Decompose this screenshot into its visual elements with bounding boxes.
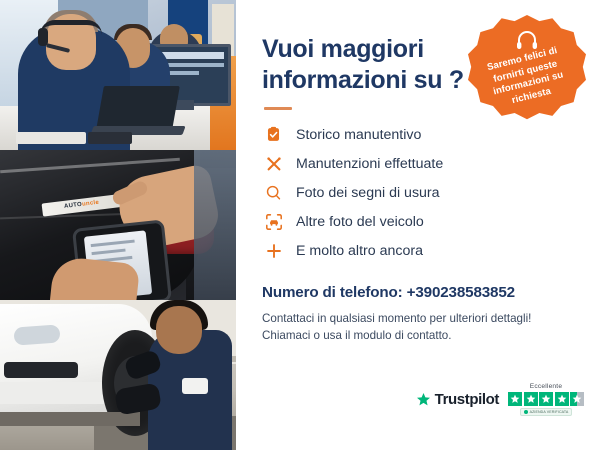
contact-line-two: Chiamaci o usa il modulo di contatto. — [262, 327, 578, 344]
feature-label: Altre foto del veicolo — [296, 214, 424, 230]
headset-band-shape — [40, 20, 102, 35]
keyboard-shape — [16, 132, 86, 144]
list-item: Altre foto del veicolo — [264, 207, 578, 236]
feature-list: Storico manutentivo Manutenzioni effettu… — [264, 120, 578, 265]
background-blur-shape — [194, 150, 236, 300]
laptop-screen-shape — [96, 86, 180, 130]
promo-banner: AUTOuncle — [0, 0, 600, 450]
trustpilot-rating: Eccellente AZIENDA VERIFICATA — [508, 383, 584, 416]
photo-call-center — [0, 0, 236, 150]
feature-label: Storico manutentivo — [296, 127, 421, 143]
contact-description: Contattaci in qualsiasi momento per ulte… — [262, 310, 578, 345]
contact-line-one: Contattaci in qualsiasi momento per ulte… — [262, 310, 578, 327]
star-4 — [555, 392, 569, 406]
list-item: E molto altro ancora — [264, 236, 578, 265]
trustpilot-widget[interactable]: Trustpilot Eccellente AZIENDA VERIFICATA — [416, 383, 584, 416]
feature-label: Manutenzioni effettuate — [296, 156, 443, 172]
photo-body-inspection: AUTOuncle — [0, 150, 236, 300]
rating-label: Eccellente — [530, 383, 562, 390]
list-item: Foto dei segni di usura — [264, 178, 578, 207]
uniform-patch-shape — [182, 378, 208, 394]
phone-number-line: Numero di telefono: +390238583852 — [262, 284, 578, 301]
list-item: Storico manutentivo — [264, 120, 578, 149]
content-panel: Vuoi maggiori informazioni su ? Saremo f… — [236, 0, 600, 450]
crossed-tools-icon — [264, 154, 283, 173]
headset-icon — [514, 29, 540, 51]
mousepad-shape — [88, 132, 132, 144]
mechanic-head-shape — [156, 306, 202, 354]
feature-label: Foto dei segni di usura — [296, 185, 440, 201]
magnifier-icon — [264, 183, 283, 202]
star-2 — [524, 392, 538, 406]
plus-icon — [264, 241, 283, 260]
grille-shape — [4, 362, 78, 378]
feature-label: E molto altro ancora — [296, 243, 423, 259]
bumper-shape — [0, 382, 118, 404]
verified-label: AZIENDA VERIFICATA — [530, 410, 569, 414]
clipboard-check-icon — [264, 125, 283, 144]
star-3 — [539, 392, 553, 406]
photo-column: AUTOuncle — [0, 0, 236, 450]
badge-text: Saremo felici di fornirti queste informa… — [479, 43, 575, 112]
list-item: Manutenzioni effettuate — [264, 149, 578, 178]
car-scan-icon — [264, 212, 283, 231]
page-title: Vuoi maggiori informazioni su ? — [262, 34, 472, 95]
star-rating — [508, 392, 584, 406]
headlight-shape — [13, 324, 60, 345]
verified-dot-icon — [524, 410, 528, 414]
lift-arm-shape — [0, 412, 140, 426]
trustpilot-star-icon — [416, 392, 431, 407]
trustpilot-name: Trustpilot — [435, 391, 499, 408]
trustpilot-logo: Trustpilot — [416, 391, 499, 408]
title-divider — [264, 107, 292, 110]
photo-wheel-inspection — [0, 300, 236, 450]
star-1 — [508, 392, 522, 406]
verified-company-badge: AZIENDA VERIFICATA — [520, 408, 573, 416]
request-info-badge: Saremo felici di fornirti queste informa… — [468, 15, 586, 133]
star-5-half — [570, 392, 584, 406]
